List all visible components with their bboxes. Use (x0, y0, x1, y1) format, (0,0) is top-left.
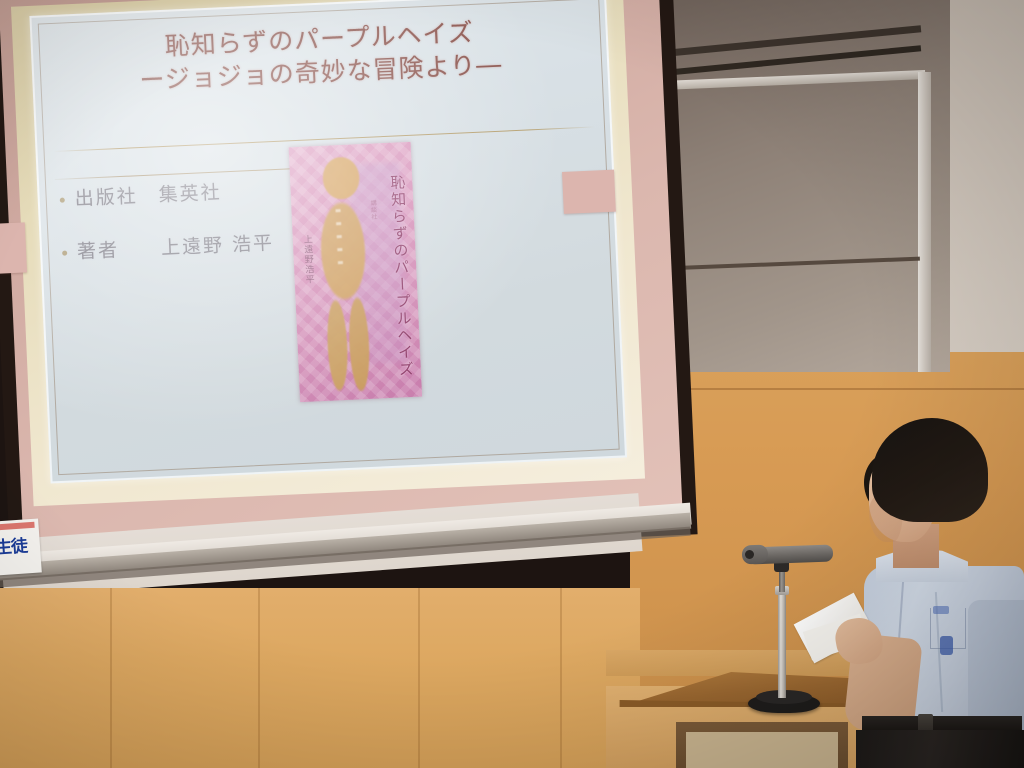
book-cover-imprint: 講談社 (368, 199, 378, 220)
wainscot-seam (258, 588, 260, 768)
bullet-label-author: 著者 上遠野 浩平 (77, 234, 275, 262)
book-cover-author: 上遠野浩平 (299, 234, 314, 285)
book-cover-figure (307, 156, 384, 394)
presenter-trousers (856, 730, 1024, 768)
sign-accent-bar (0, 522, 35, 531)
wall-sign: 生徒 (0, 518, 42, 575)
screen-clip-left (0, 222, 27, 274)
podium-back-shelf (606, 650, 874, 676)
shirt-name-badge (940, 636, 953, 655)
presentation-photo-scene: 恥知らずのパープルヘイズ ージョジョの奇妙な冒険より― 出版社 集英社 著者 上… (0, 0, 1024, 768)
microphone-stand-pole (778, 586, 786, 698)
screen-clip-right (562, 170, 616, 214)
bullet-dot-icon (60, 198, 65, 203)
wall-right-light-panel (940, 0, 1024, 356)
presenter-hair (872, 418, 988, 522)
wall-wainscot-left (0, 588, 640, 768)
shirt-pocket-item (933, 606, 949, 614)
wainscot-seam (560, 588, 562, 768)
wainscot-seam (418, 588, 420, 768)
presenter-sleeve (968, 600, 1024, 730)
sign-text: 生徒 (0, 531, 28, 558)
podium-recess-inner (686, 732, 838, 768)
whiteboard-frame-right (918, 72, 931, 372)
book-cover-image: 恥知らずのパープルヘイズ 講談社 上遠野浩平 (289, 142, 422, 402)
microphone-end-cap (745, 550, 754, 559)
wainscot-seam (110, 588, 112, 768)
bullet-dot-icon (62, 251, 67, 256)
bullet-label-publisher: 出版社 集英社 (74, 183, 222, 209)
